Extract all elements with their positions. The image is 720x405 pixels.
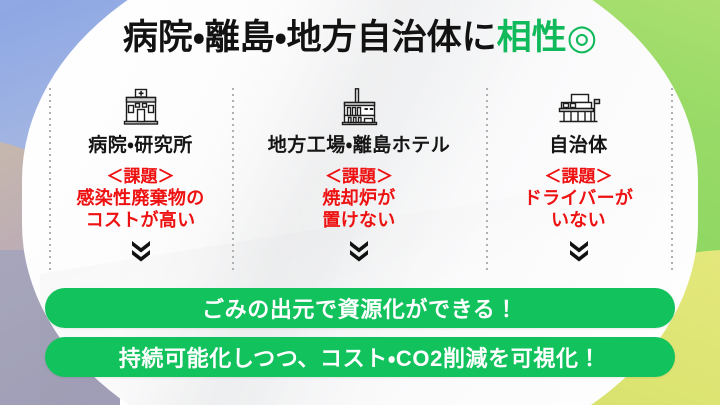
double-chevron-down-icon — [346, 236, 372, 262]
benefit-banner-2-text: 持続可能化しつつ、コスト・CO2削減を可視化！ — [119, 341, 601, 373]
hospital-icon — [121, 84, 161, 126]
segment-issue-text: 焼却炉が 置けない — [322, 188, 395, 232]
column-divider-4 — [671, 88, 673, 273]
segment-factory: 地方工場・離島ホテル ＜課題＞ 焼却炉が 置けない — [232, 84, 486, 279]
city-hall-icon — [556, 84, 602, 126]
slide-root: 病院・離島・地方自治体に相性◎ — [0, 0, 720, 405]
segment-title: 地方工場・離島ホテル — [268, 130, 450, 157]
segment-issue-text: 感染性廃棄物の コストが高い — [76, 188, 204, 232]
segment-municipality: 自治体 ＜課題＞ ドライバーが いない — [486, 84, 671, 279]
segments-row: 病院・研究所 ＜課題＞ 感染性廃棄物の コストが高い — [49, 84, 671, 279]
segment-issue-text: ドライバーが いない — [524, 188, 633, 232]
double-chevron-down-icon — [128, 236, 154, 262]
benefit-banner-2: 持続可能化しつつ、コスト・CO2削減を可視化！ — [45, 337, 675, 377]
segment-issue-label: ＜課題＞ — [325, 162, 393, 187]
segment-issue-label: ＜課題＞ — [107, 162, 175, 187]
benefit-banner-1-text: ごみの出元で資源化ができる！ — [202, 292, 518, 324]
benefit-banner-1: ごみの出元で資源化ができる！ — [45, 288, 675, 328]
segment-title: 病院・研究所 — [88, 130, 192, 157]
double-chevron-down-icon — [566, 236, 592, 262]
segment-title: 自治体 — [549, 130, 608, 157]
slide-content: 病院・離島・地方自治体に相性◎ — [0, 0, 720, 405]
slide-title-accent: 相性◎ — [497, 18, 598, 57]
slide-title: 病院・離島・地方自治体に相性◎ — [0, 17, 720, 58]
slide-title-main: 病院・離島・地方自治体に — [123, 18, 497, 57]
factory-icon — [338, 84, 380, 126]
segment-hospital: 病院・研究所 ＜課題＞ 感染性廃棄物の コストが高い — [49, 84, 232, 279]
segment-issue-label: ＜課題＞ — [545, 162, 613, 187]
